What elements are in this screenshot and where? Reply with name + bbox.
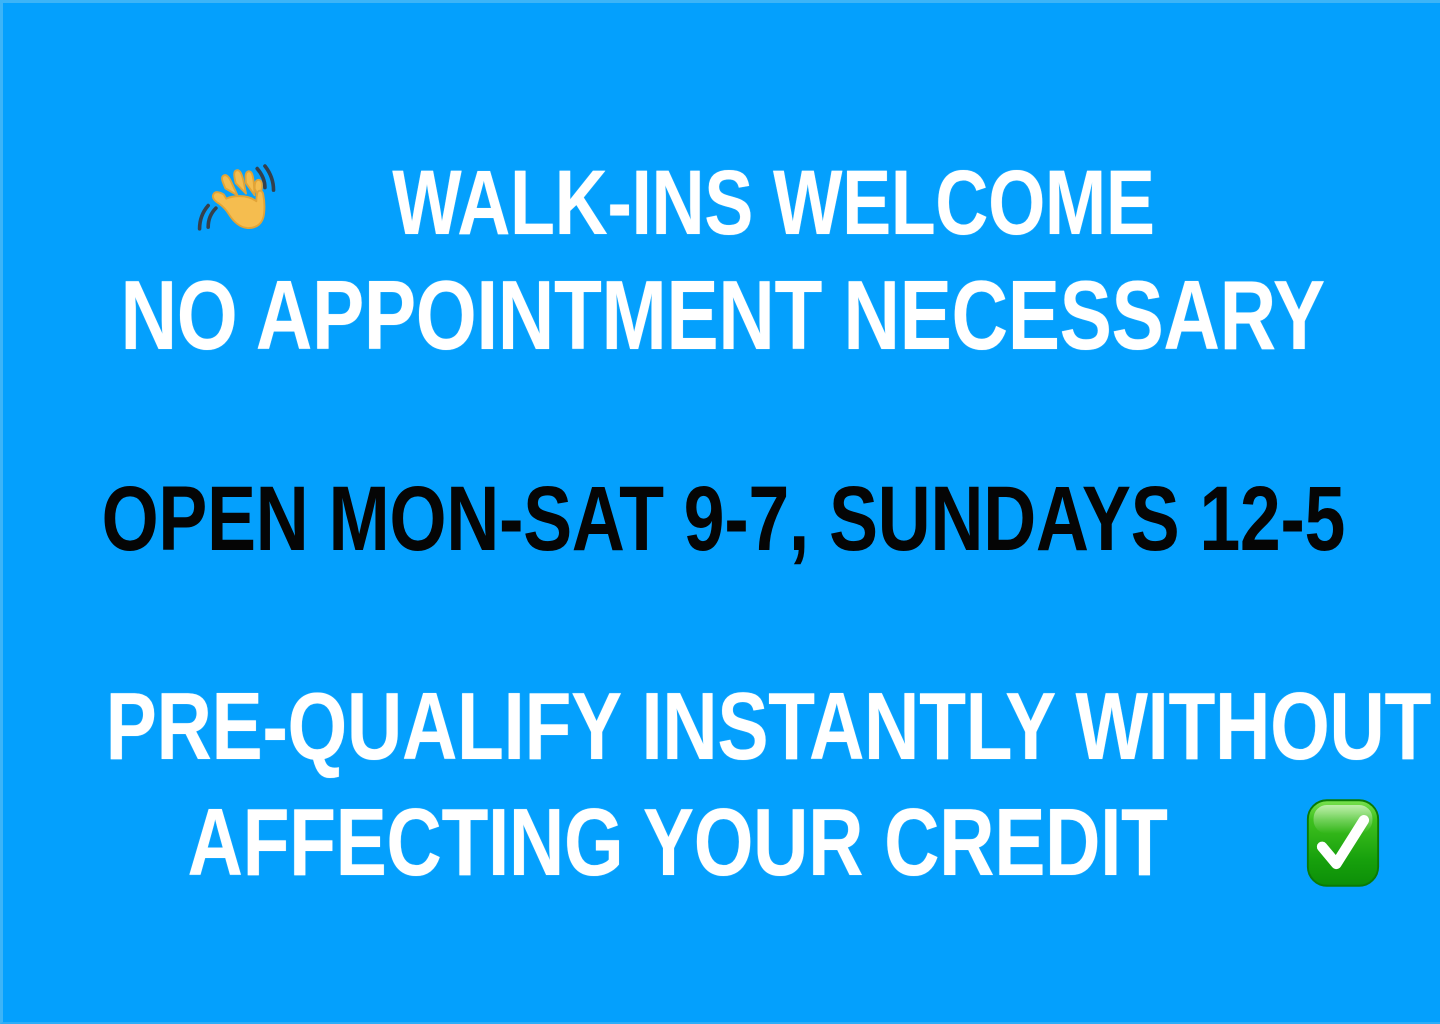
- store-hours-line: OPEN MON-SAT 9-7, SUNDAYS 12-5: [3, 471, 1440, 567]
- promo-sign: WALK-INS WELCOME NO APPOINTMENT NECESSAR…: [0, 0, 1440, 1024]
- headline-no-appointment: NO APPOINTMENT NECESSARY: [3, 265, 1440, 365]
- prequalify-line: PRE-QUALIFY INSTANTLY WITHOUT: [3, 675, 1440, 779]
- waving-hand-icon: [197, 157, 283, 249]
- check-mark-button-icon: [1305, 797, 1381, 889]
- prequalify-text: PRE-QUALIFY INSTANTLY WITHOUT: [105, 679, 1430, 775]
- headline-no-appointment-text: NO APPOINTMENT NECESSARY: [121, 266, 1325, 364]
- store-hours-text: OPEN MON-SAT 9-7, SUNDAYS 12-5: [101, 473, 1345, 565]
- headline-walk-ins-welcome-text: WALK-INS WELCOME: [392, 157, 1154, 249]
- credit-text: AFFECTING YOUR CREDIT: [188, 795, 1168, 891]
- credit-line: AFFECTING YOUR CREDIT: [3, 791, 1440, 895]
- headline-walk-ins-welcome: WALK-INS WELCOME: [3, 151, 1440, 255]
